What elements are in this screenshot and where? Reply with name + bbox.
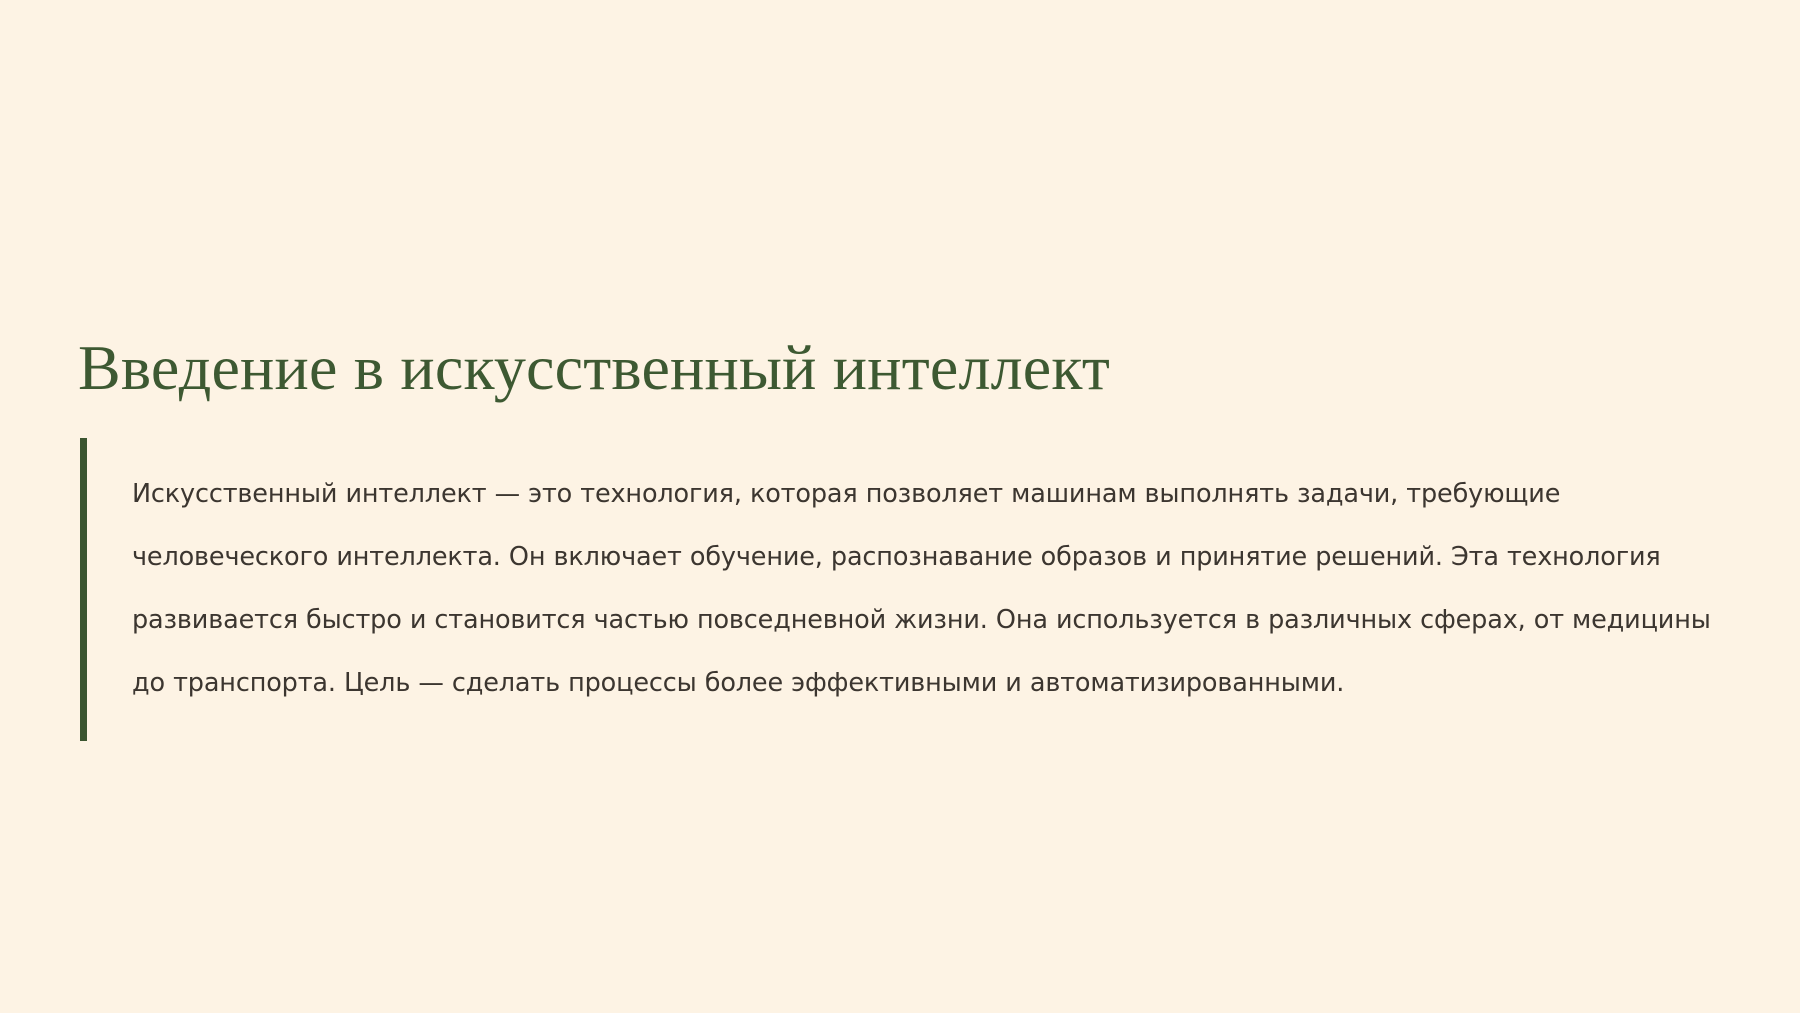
callout-quote-block: Искусственный интеллект — это технология…	[78, 438, 1718, 741]
quote-paragraph: Искусственный интеллект — это технология…	[132, 463, 1718, 715]
document-content: Введение в искусственный интеллект Искус…	[78, 332, 1718, 741]
document-page: Введение в искусственный интеллект Искус…	[0, 0, 1800, 1013]
accent-bar	[80, 438, 87, 741]
page-title: Введение в искусственный интеллект	[78, 332, 1718, 404]
